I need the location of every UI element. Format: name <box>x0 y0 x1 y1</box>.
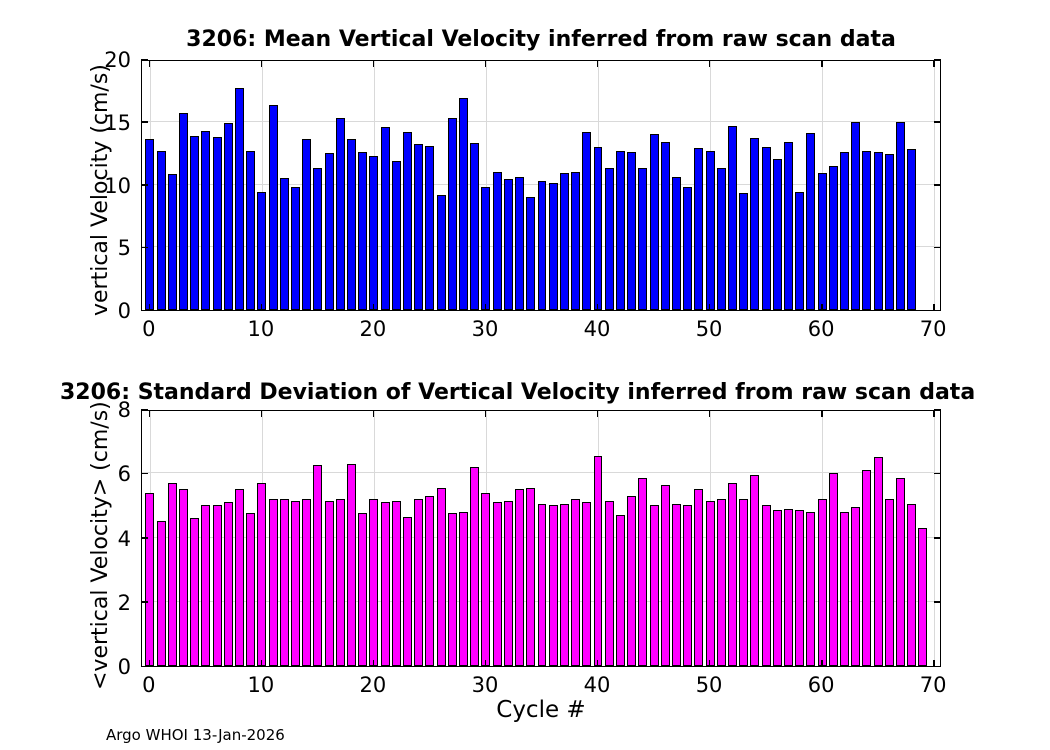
y-tick <box>934 601 941 602</box>
y-tick <box>934 184 941 185</box>
x-tick <box>597 60 598 67</box>
bar <box>885 499 894 666</box>
bar <box>470 467 479 666</box>
bar <box>493 502 502 666</box>
plot-area-std <box>141 410 941 667</box>
bar <box>448 513 457 666</box>
bar <box>784 509 793 666</box>
y-tick <box>141 310 148 311</box>
bar <box>325 153 334 310</box>
bar <box>571 172 580 310</box>
x-tick <box>485 60 486 67</box>
chart-title-mean: 3206: Mean Vertical Velocity inferred fr… <box>141 27 941 52</box>
bar <box>773 510 782 666</box>
bar <box>493 172 502 310</box>
y-tick <box>141 473 148 474</box>
x-tick-label: 30 <box>472 317 499 341</box>
bar <box>694 489 703 666</box>
bar <box>269 105 278 310</box>
x-tick <box>149 410 150 417</box>
y-tick <box>934 59 941 60</box>
x-tick <box>373 660 374 667</box>
bar-series-std <box>142 411 940 666</box>
y-tick <box>934 121 941 122</box>
bar <box>683 505 692 666</box>
y-tick <box>934 537 941 538</box>
bar <box>425 496 434 666</box>
chart-std-vertical-velocity <box>141 410 941 667</box>
bar <box>347 464 356 666</box>
bar <box>437 195 446 310</box>
x-tick-label: 60 <box>808 317 835 341</box>
y-tick <box>141 247 148 248</box>
x-tick <box>597 410 598 417</box>
bar <box>280 499 289 666</box>
y-tick <box>934 473 941 474</box>
x-tick-label: 70 <box>920 317 947 341</box>
y-tick <box>141 121 148 122</box>
bar <box>874 457 883 666</box>
x-tick-label: 40 <box>584 673 611 697</box>
y-tick-label: 8 <box>79 398 131 422</box>
bar <box>650 505 659 666</box>
bar <box>504 501 513 666</box>
bar <box>706 501 715 666</box>
x-tick <box>709 304 710 311</box>
bar <box>179 489 188 666</box>
bar <box>358 152 367 310</box>
bar <box>728 126 737 310</box>
bar <box>706 151 715 310</box>
x-tick <box>261 60 262 67</box>
bar <box>313 168 322 310</box>
y-tick-label: 5 <box>79 236 131 260</box>
bar <box>616 151 625 310</box>
bar <box>907 504 916 666</box>
bar <box>582 502 591 666</box>
bar <box>907 149 916 310</box>
bar <box>874 152 883 310</box>
bar <box>504 179 513 310</box>
bar <box>538 181 547 310</box>
y-tick <box>141 537 148 538</box>
bar <box>369 156 378 310</box>
bar <box>437 488 446 666</box>
y-tick-label: 20 <box>79 48 131 72</box>
bar <box>157 151 166 310</box>
bar <box>526 197 535 310</box>
bar <box>829 166 838 310</box>
bar <box>403 132 412 310</box>
bar <box>717 499 726 666</box>
bar <box>291 187 300 310</box>
y-tick-label: 6 <box>79 462 131 486</box>
bar <box>549 505 558 666</box>
y-tick <box>141 184 148 185</box>
bar <box>313 465 322 666</box>
x-tick-label: 60 <box>808 673 835 697</box>
bar <box>235 88 244 310</box>
x-tick-label: 10 <box>248 673 275 697</box>
y-tick <box>934 310 941 311</box>
bar <box>750 475 759 666</box>
x-tick <box>821 60 822 67</box>
bar <box>291 501 300 666</box>
x-tick-label: 70 <box>920 673 947 697</box>
chart-title-std: 3206: Standard Deviation of Vertical Vel… <box>60 380 1050 405</box>
bar <box>145 493 154 666</box>
y-tick-label: 10 <box>79 174 131 198</box>
bar <box>392 501 401 666</box>
x-tick-label: 0 <box>142 317 155 341</box>
x-tick <box>485 660 486 667</box>
bar <box>616 515 625 666</box>
bar <box>549 183 558 310</box>
x-tick <box>149 60 150 67</box>
bar <box>246 151 255 310</box>
y-tick <box>141 666 148 667</box>
bar <box>414 144 423 310</box>
bar <box>459 512 468 666</box>
x-tick <box>485 410 486 417</box>
y-tick-label: 2 <box>79 591 131 615</box>
bar <box>795 510 804 666</box>
bar <box>369 499 378 666</box>
x-tick <box>149 304 150 311</box>
x-tick <box>709 60 710 67</box>
bar <box>201 131 210 310</box>
bar <box>885 154 894 310</box>
x-axis-label: Cycle # <box>141 697 941 723</box>
x-tick <box>933 410 934 417</box>
bar <box>448 118 457 310</box>
x-tick <box>709 660 710 667</box>
bar <box>190 518 199 666</box>
bar <box>392 161 401 310</box>
footer-credit: Argo WHOI 13-Jan-2026 <box>106 726 285 744</box>
bar <box>481 187 490 310</box>
bar <box>515 489 524 666</box>
bar <box>526 488 535 666</box>
bar <box>605 501 614 666</box>
y-tick-label: 0 <box>79 655 131 679</box>
bar <box>280 178 289 310</box>
bar <box>246 513 255 666</box>
bar <box>425 146 434 310</box>
x-tick-label: 20 <box>360 673 387 697</box>
x-tick <box>261 304 262 311</box>
bar <box>201 505 210 666</box>
bar <box>840 512 849 666</box>
bar <box>851 507 860 666</box>
x-tick <box>261 660 262 667</box>
bar <box>717 168 726 310</box>
x-tick <box>373 304 374 311</box>
x-tick <box>821 660 822 667</box>
bar <box>784 142 793 310</box>
bar <box>190 136 199 310</box>
bar <box>538 504 547 666</box>
bar <box>347 139 356 310</box>
y-tick-label: 0 <box>79 299 131 323</box>
y-tick-label: 4 <box>79 527 131 551</box>
bar <box>896 478 905 666</box>
x-tick <box>485 304 486 311</box>
bar <box>773 159 782 310</box>
bar <box>661 485 670 667</box>
bar <box>224 123 233 310</box>
plot-area-mean <box>141 60 941 311</box>
y-tick-label: 15 <box>79 111 131 135</box>
bar <box>213 505 222 666</box>
bar <box>627 496 636 666</box>
bar <box>627 152 636 310</box>
bar <box>806 133 815 310</box>
bar <box>818 499 827 666</box>
bar <box>560 173 569 310</box>
bar <box>414 499 423 666</box>
x-tick <box>149 660 150 667</box>
bar <box>818 173 827 310</box>
bar <box>459 98 468 310</box>
bar <box>257 192 266 310</box>
bar <box>582 132 591 310</box>
bar <box>862 151 871 310</box>
bar <box>594 456 603 666</box>
bar <box>168 174 177 310</box>
x-tick <box>261 410 262 417</box>
y-tick <box>141 601 148 602</box>
bar <box>470 143 479 310</box>
bar <box>829 473 838 666</box>
x-tick <box>709 410 710 417</box>
bar <box>762 147 771 310</box>
bar <box>672 177 681 310</box>
y-tick <box>141 59 148 60</box>
x-tick <box>821 410 822 417</box>
x-tick <box>597 660 598 667</box>
bar <box>851 122 860 310</box>
bar <box>739 193 748 310</box>
y-tick <box>934 247 941 248</box>
bar <box>302 499 311 666</box>
bar <box>638 478 647 666</box>
y-tick <box>934 409 941 410</box>
bar <box>638 168 647 310</box>
bar <box>661 142 670 310</box>
bar <box>806 512 815 666</box>
bar <box>336 499 345 666</box>
x-tick <box>597 304 598 311</box>
bar <box>862 470 871 666</box>
x-tick <box>933 60 934 67</box>
bar <box>179 113 188 310</box>
bar <box>381 127 390 310</box>
bar <box>224 502 233 666</box>
bar <box>672 504 681 666</box>
x-tick-label: 0 <box>142 673 155 697</box>
bar <box>605 168 614 310</box>
x-tick <box>821 304 822 311</box>
bar <box>302 139 311 310</box>
bar <box>594 147 603 310</box>
bar <box>918 528 927 666</box>
bar <box>381 502 390 666</box>
bar <box>213 137 222 310</box>
bar <box>560 504 569 666</box>
bar <box>840 152 849 310</box>
x-tick-label: 10 <box>248 317 275 341</box>
bar <box>145 139 154 310</box>
bar <box>358 513 367 666</box>
bar <box>269 499 278 666</box>
y-tick <box>934 666 941 667</box>
bar <box>336 118 345 310</box>
bar <box>694 148 703 310</box>
figure-canvas: 3206: Mean Vertical Velocity inferred fr… <box>0 0 1050 750</box>
bar <box>157 521 166 666</box>
x-tick-label: 30 <box>472 673 499 697</box>
bar <box>728 483 737 666</box>
bar <box>683 187 692 310</box>
bar <box>650 134 659 310</box>
bar <box>325 501 334 666</box>
bar <box>403 517 412 666</box>
bar <box>896 122 905 310</box>
bar <box>795 192 804 310</box>
bar <box>750 138 759 310</box>
x-tick-label: 50 <box>696 317 723 341</box>
bar <box>481 493 490 666</box>
bar <box>571 499 580 666</box>
bar <box>168 483 177 666</box>
bar-series-mean <box>142 61 940 310</box>
bar <box>257 483 266 666</box>
bar <box>762 505 771 666</box>
x-tick-label: 50 <box>696 673 723 697</box>
x-tick-label: 40 <box>584 317 611 341</box>
x-tick <box>373 410 374 417</box>
y-tick <box>141 409 148 410</box>
bar <box>739 499 748 666</box>
bar <box>235 489 244 666</box>
chart-mean-vertical-velocity <box>141 60 941 311</box>
x-tick-label: 20 <box>360 317 387 341</box>
bar <box>515 177 524 310</box>
x-tick <box>373 60 374 67</box>
